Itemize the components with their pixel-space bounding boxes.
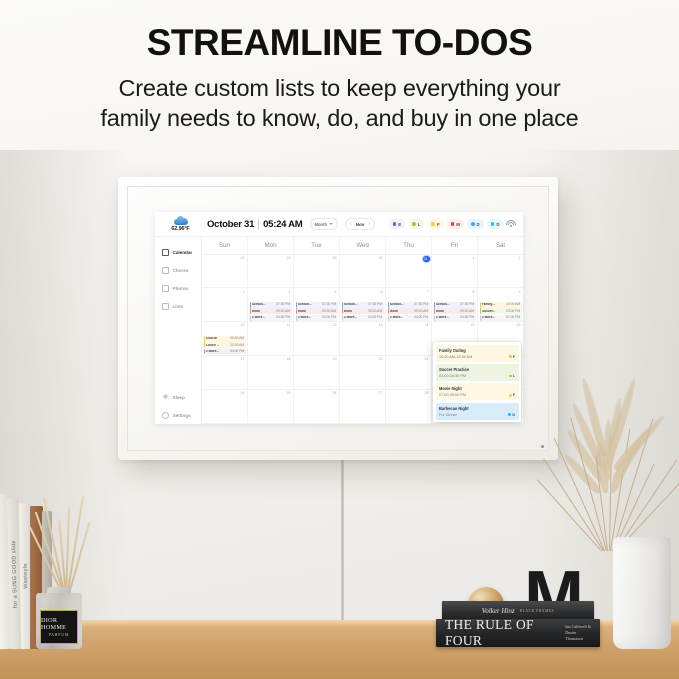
calendar-week-row: 272829303112 xyxy=(202,255,523,289)
view-selector-dropdown[interactable]: Month xyxy=(310,218,339,230)
calendar-event[interactable]: Lunch ...12:00 AM xyxy=(204,342,246,348)
event-title: 2 More... xyxy=(390,316,403,319)
filter-chip-label: E xyxy=(398,222,401,227)
filter-chip-d-5[interactable]: D xyxy=(487,219,503,229)
book-bottom-title: THE RULE OF FOUR xyxy=(445,617,557,649)
filter-color-dot xyxy=(491,222,495,226)
event-time: 04:00 PM xyxy=(368,316,382,319)
day-number: 26 xyxy=(296,392,338,396)
sidebar-item-calendar[interactable]: Calendar xyxy=(155,243,201,261)
agenda-card-title: Movie Night xyxy=(439,386,515,391)
day-number: 29 xyxy=(296,256,338,260)
chevron-right-icon[interactable]: › xyxy=(368,222,370,227)
sidebar-item-label: Chores xyxy=(173,268,189,273)
agenda-badge-label: F xyxy=(513,393,515,397)
filter-color-dot xyxy=(471,222,475,226)
calendar-day-cell[interactable]: 19 xyxy=(294,356,340,389)
day-number: 28 xyxy=(250,256,292,260)
day-events: Church09:00 AMLunch ...12:00 AM2 More...… xyxy=(204,336,246,355)
filter-chip-f-2[interactable]: F xyxy=(428,219,444,229)
day-header-fri: Fri xyxy=(432,237,478,254)
event-title: School... xyxy=(344,303,358,306)
event-time: 07:00 PM xyxy=(506,316,520,319)
agenda-badge-label: D xyxy=(512,413,515,417)
agenda-card-title: Soccer Practice xyxy=(439,367,515,372)
calendar-event[interactable]: 2 More...04:00 PM xyxy=(296,315,338,321)
calendar-day-cell[interactable]: 3 xyxy=(202,288,248,321)
book-spine-text: for a SUNG GOOD slide xyxy=(11,540,19,608)
event-time: 07:30 PM xyxy=(460,303,474,306)
calendar-day-cell[interactable]: 29 xyxy=(294,255,340,288)
day-number: 18 xyxy=(250,358,292,362)
calendar-event[interactable]: 2 More...04:00 PM xyxy=(250,315,292,321)
agenda-card-subtitle: 10:00 AM-12:00 AM xyxy=(439,355,472,359)
filter-color-dot xyxy=(412,222,416,226)
sidebar-item-photos[interactable]: Photos xyxy=(155,279,201,297)
event-time: 09:00 AM xyxy=(368,310,382,313)
member-filter-chips: ELFMDD xyxy=(389,219,503,229)
filter-color-dot xyxy=(431,222,435,226)
day-events: School...07:30 PMWork09:00 AM2 More...04… xyxy=(434,302,476,321)
diffuser-sub: PARFUM xyxy=(49,633,69,637)
event-time: 07:30 PM xyxy=(414,303,428,306)
calendar-icon xyxy=(162,249,169,256)
diffuser-label: DIOR HOMME PARFUM xyxy=(40,610,78,644)
agenda-badge-dot xyxy=(508,413,511,416)
sidebar-item-settings[interactable]: Settings xyxy=(155,406,201,424)
agenda-card-badge: F xyxy=(509,355,515,359)
calendar-day-cell[interactable]: 11 xyxy=(248,322,294,355)
datetime-display: October 31 05:24 AM xyxy=(207,219,303,230)
app-topbar: 62.96°F October 31 05:24 AM Month ‹ Nov xyxy=(155,212,523,237)
event-title: Soccer... xyxy=(482,310,496,313)
event-time: 04:00 PM xyxy=(322,316,336,319)
calendar-day-cell[interactable]: 18 xyxy=(248,356,294,389)
calendar-day-cell[interactable]: 21 xyxy=(386,356,432,389)
calendar-event[interactable]: School...07:30 PM xyxy=(388,302,430,308)
event-title: 2 More... xyxy=(482,316,495,319)
event-title: 2 More... xyxy=(206,350,219,353)
event-time: 09:00 AM xyxy=(276,310,290,313)
agenda-card[interactable]: Movie Night07:00-09:00 PMF xyxy=(436,383,519,400)
calendar-day-cell[interactable]: 17 xyxy=(202,356,248,389)
agenda-badge-dot xyxy=(509,394,512,397)
day-events: School...07:30 PMWork09:00 AM2 More...04… xyxy=(342,302,384,321)
event-time: 04:00 PM xyxy=(276,316,290,319)
filter-chip-label: D xyxy=(496,222,499,227)
reed-diffuser: DIOR HOMME PARFUM xyxy=(30,553,88,649)
calendar-day-cell[interactable]: 12 xyxy=(294,322,340,355)
day-number: 27 xyxy=(342,392,384,396)
day-number: 15 xyxy=(434,324,476,328)
day-number: 1 xyxy=(434,256,476,260)
calendar-day-cell[interactable]: 7School...07:30 PMWork09:00 AM2 More...0… xyxy=(386,288,432,321)
agenda-card-badge: D xyxy=(508,413,515,417)
app-sidebar: CalendarChoresPhotosLists✳SleepSettings xyxy=(155,237,202,424)
day-number: 19 xyxy=(296,358,338,362)
agenda-badge-label: F xyxy=(513,355,515,359)
agenda-card-row: 03:00-04:30 PML xyxy=(439,374,515,378)
photos-icon xyxy=(162,285,169,292)
calendar-event[interactable]: 2 More...04:00 PM xyxy=(342,315,384,321)
day-number: 16 xyxy=(480,324,522,328)
agenda-card[interactable]: Family Outing10:00 AM-12:00 AMF xyxy=(436,345,519,362)
sidebar-item-label: Lists xyxy=(173,304,184,309)
event-time: 04:00 PM xyxy=(460,316,474,319)
event-title: School... xyxy=(436,303,450,306)
calendar-event[interactable]: 2 More...04:00 PM xyxy=(434,315,476,321)
event-title: Work xyxy=(344,310,352,313)
lists-icon xyxy=(162,303,169,310)
wifi-icon[interactable] xyxy=(506,220,516,228)
day-number: 2 xyxy=(480,256,522,260)
calendar-event[interactable]: 2 More...04:00 PM xyxy=(388,315,430,321)
sidebar-spacer xyxy=(155,315,201,388)
calendar-event[interactable]: Work09:00 AM xyxy=(434,308,476,314)
calendar-day-cell[interactable]: 27 xyxy=(340,390,386,423)
day-header-sun: Sun xyxy=(202,237,248,254)
event-title: School... xyxy=(298,303,312,306)
calendar-day-cell[interactable]: 30 xyxy=(340,255,386,288)
tablet-screen[interactable]: 62.96°F October 31 05:24 AM Month ‹ Nov xyxy=(155,212,523,424)
event-time: 07:30 PM xyxy=(276,303,290,306)
calendar-day-cell[interactable]: 9Family...10:00 AMSoccer...03:00 PM2 Mor… xyxy=(478,288,523,321)
event-time: 07:30 PM xyxy=(322,303,336,306)
day-number: 4 xyxy=(250,290,292,294)
right-book-stack: Volker Hinz BLACK FRAMES THE RULE OF FOU… xyxy=(436,601,604,649)
event-title: 2 More... xyxy=(344,316,357,319)
app-body: CalendarChoresPhotosLists✳SleepSettings … xyxy=(155,237,523,424)
agenda-card-subtitle: 07:00-09:00 PM xyxy=(439,393,466,397)
event-time: 10:00 AM xyxy=(506,303,520,306)
day-number: 27 xyxy=(204,256,246,260)
filter-chip-label: M xyxy=(456,222,460,227)
event-title: School... xyxy=(252,303,266,306)
calendar-event[interactable]: School...07:30 PM xyxy=(250,302,292,308)
calendar-day-cell[interactable]: 10Church09:00 AMLunch ...12:00 AM2 More.… xyxy=(202,322,248,355)
calendar-event[interactable]: Work09:00 AM xyxy=(342,308,384,314)
event-title: Family... xyxy=(482,303,495,306)
sidebar-item-lists[interactable]: Lists xyxy=(155,297,201,315)
calendar-event[interactable]: Church09:00 AM xyxy=(204,336,246,342)
calendar-event[interactable]: Work09:00 AM xyxy=(296,308,338,314)
day-number: 7 xyxy=(388,290,430,294)
day-number: 20 xyxy=(342,358,384,362)
diffuser-bottle: DIOR HOMME PARFUM xyxy=(36,593,82,649)
current-time: 05:24 AM xyxy=(263,219,302,230)
agenda-card[interactable]: Barbecue NightFor DinnerD xyxy=(436,403,519,420)
calendar-day-cell[interactable]: 2 xyxy=(478,255,523,288)
sidebar-item-label: Calendar xyxy=(173,250,193,255)
agenda-badge-dot xyxy=(509,375,512,378)
day-number-today: 31 xyxy=(423,256,429,262)
hero-subhead-line2: family needs to know, do, and buy in one… xyxy=(0,103,679,133)
day-number: 11 xyxy=(250,324,292,328)
calendar-day-cell[interactable]: 25 xyxy=(248,390,294,423)
calendar-day-cell[interactable]: 24 xyxy=(202,390,248,423)
calendar-day-cell[interactable]: 5School...07:30 PMWork09:00 AM2 More...0… xyxy=(294,288,340,321)
pampas-grass xyxy=(533,386,679,551)
calendar-event[interactable]: Work09:00 AM xyxy=(250,308,292,314)
day-header-mon: Mon xyxy=(248,237,294,254)
event-title: Work xyxy=(436,310,444,313)
agenda-card-title: Barbecue Night xyxy=(439,406,515,411)
sidebar-item-label: Photos xyxy=(173,286,189,291)
calendar-view: SunMonTueWedThuFriSat 27282930311234Scho… xyxy=(202,237,523,424)
event-title: Lunch ... xyxy=(206,344,220,347)
filter-chip-d-4[interactable]: D xyxy=(467,219,483,229)
agenda-panel[interactable]: Family Outing10:00 AM-12:00 AMFSoccer Pr… xyxy=(433,342,521,422)
room-scene: STREAMLINE TO-DOS Create custom lists to… xyxy=(0,0,679,679)
day-of-week-header: SunMonTueWedThuFriSat xyxy=(202,237,523,255)
weather-widget[interactable]: 62.96°F xyxy=(157,216,204,232)
event-time: 12:00 AM xyxy=(230,344,244,347)
sleep-icon: ✳ xyxy=(162,394,169,401)
author-line: Dustin Thomason xyxy=(565,630,591,641)
filter-chip-label: F xyxy=(437,222,440,227)
filter-chip-label: D xyxy=(477,222,480,227)
agenda-card-badge: F xyxy=(509,393,515,397)
event-title: Work xyxy=(252,310,260,313)
event-time: 09:00 AM xyxy=(460,310,474,313)
day-number: 21 xyxy=(388,358,430,362)
calendar-day-cell[interactable]: 31 xyxy=(386,255,432,288)
calendar-event[interactable]: School...07:30 PM xyxy=(342,302,384,308)
gear-icon xyxy=(162,412,169,419)
agenda-card-row: 07:00-09:00 PMF xyxy=(439,393,515,397)
calendar-day-cell[interactable]: 28 xyxy=(386,390,432,423)
sidebar-item-sleep[interactable]: ✳Sleep xyxy=(155,388,201,406)
day-number: 17 xyxy=(204,358,246,362)
book-top-sub: BLACK FRAMES xyxy=(520,609,555,613)
filter-color-dot xyxy=(451,222,455,226)
agenda-card-subtitle: For Dinner xyxy=(439,413,457,417)
day-header-tue: Tue xyxy=(294,237,340,254)
day-number: 28 xyxy=(388,392,430,396)
day-number: 3 xyxy=(204,290,246,294)
temperature-label: 62.96°F xyxy=(171,226,189,232)
event-time: 04:00 PM xyxy=(414,316,428,319)
calendar-event[interactable]: School...07:30 PM xyxy=(434,302,476,308)
filter-chip-l-1[interactable]: L xyxy=(409,219,425,229)
agenda-card-badge: L xyxy=(509,374,515,378)
day-number: 10 xyxy=(204,324,246,328)
filter-chip-e-0[interactable]: E xyxy=(389,219,405,229)
agenda-badge-dot xyxy=(509,355,512,358)
event-title: Work xyxy=(390,310,398,313)
day-number: 8 xyxy=(434,290,476,294)
day-header-wed: Wed xyxy=(340,237,386,254)
event-title: Church xyxy=(206,337,218,340)
event-title: School... xyxy=(390,303,404,306)
current-date: October 31 xyxy=(207,219,254,230)
book-bottom: THE RULE OF FOUR Ian Caldwell &Dustin Th… xyxy=(436,619,600,647)
day-number: 24 xyxy=(204,392,246,396)
calendar-day-cell[interactable]: 4School...07:30 PMWork09:00 AM2 More...0… xyxy=(248,288,294,321)
event-time: 09:00 AM xyxy=(230,337,244,340)
agenda-card[interactable]: Soccer Practice03:00-04:30 PML xyxy=(436,364,519,381)
day-number: 30 xyxy=(342,256,384,260)
agenda-card-row: 10:00 AM-12:00 AMF xyxy=(439,355,515,359)
page-title: STREAMLINE TO-DOS xyxy=(0,22,679,65)
day-header-thu: Thu xyxy=(386,237,432,254)
event-time: 09:00 AM xyxy=(414,310,428,313)
event-title: Work xyxy=(298,310,306,313)
filter-chip-label: L xyxy=(418,222,421,227)
calendar-day-cell[interactable]: 13 xyxy=(340,322,386,355)
day-number: 5 xyxy=(296,290,338,294)
sidebar-item-label: Sleep xyxy=(173,395,185,400)
event-time: 03:00 PM xyxy=(506,310,520,313)
day-number: 6 xyxy=(342,290,384,294)
sidebar-item-chores[interactable]: Chores xyxy=(155,261,201,279)
chevron-down-icon xyxy=(329,223,333,225)
hero-subhead-line1: Create custom lists to keep everything y… xyxy=(0,73,679,103)
cloud-icon xyxy=(174,216,188,225)
agenda-card-row: For DinnerD xyxy=(439,413,515,417)
calendar-event[interactable]: Family...10:00 AM xyxy=(480,302,522,308)
book-spine-text: Wasteyle xyxy=(22,563,28,589)
day-events: School...07:30 PMWork09:00 AM2 More...04… xyxy=(388,302,430,321)
calendar-day-cell[interactable]: 26 xyxy=(294,390,340,423)
agenda-card-subtitle: 03:00-04:30 PM xyxy=(439,374,466,378)
calendar-event[interactable]: 2 More...07:00 PM xyxy=(480,315,522,321)
event-time: 09:00 AM xyxy=(322,310,336,313)
wall-mounted-display-frame: 62.96°F October 31 05:24 AM Month ‹ Nov xyxy=(118,177,558,460)
calendar-day-cell[interactable]: 14 xyxy=(386,322,432,355)
sidebar-item-label: Settings xyxy=(173,413,191,418)
diffuser-brand: DIOR HOMME xyxy=(41,617,77,631)
month-navigator[interactable]: ‹ Nov › xyxy=(345,218,375,230)
day-events: School...07:30 PMWork09:00 AM2 More...04… xyxy=(296,302,338,321)
day-number: 9 xyxy=(480,290,522,294)
vase xyxy=(613,537,671,649)
chores-icon xyxy=(162,267,169,274)
event-title: 2 More... xyxy=(436,316,449,319)
calendar-day-cell[interactable]: 20 xyxy=(340,356,386,389)
month-label: Nov xyxy=(356,222,365,227)
calendar-app: 62.96°F October 31 05:24 AM Month ‹ Nov xyxy=(155,212,523,424)
book-top-title: Volker Hinz xyxy=(482,607,515,615)
book-bottom-authors: Ian Caldwell &Dustin Thomason xyxy=(565,624,591,641)
calendar-event[interactable]: Soccer...03:00 PM xyxy=(480,308,522,314)
day-header-sat: Sat xyxy=(478,237,523,254)
calendar-week-row: 34School...07:30 PMWork09:00 AM2 More...… xyxy=(202,288,523,322)
calendar-day-cell[interactable]: 28 xyxy=(248,255,294,288)
calendar-event[interactable]: 2 More...03:00 PM xyxy=(204,349,246,355)
calendar-day-cell[interactable]: 6School...07:30 PMWork09:00 AM2 More...0… xyxy=(340,288,386,321)
agenda-card-title: Family Outing xyxy=(439,348,515,353)
day-number: 14 xyxy=(388,324,430,328)
hero-text-block: STREAMLINE TO-DOS Create custom lists to… xyxy=(0,22,679,133)
view-selector-label: Month xyxy=(315,222,328,227)
power-cable xyxy=(341,458,344,623)
hero-subhead: Create custom lists to keep everything y… xyxy=(0,73,679,133)
diffuser-reed xyxy=(67,522,90,597)
diffuser-reeds xyxy=(51,493,81,597)
event-title: 2 More... xyxy=(298,316,311,319)
chevron-left-icon[interactable]: ‹ xyxy=(350,222,352,227)
day-number: 12 xyxy=(296,324,338,328)
agenda-badge-label: L xyxy=(513,374,515,378)
calendar-day-cell[interactable]: 27 xyxy=(202,255,248,288)
event-time: 03:00 PM xyxy=(230,350,244,353)
event-title: 2 More... xyxy=(252,316,265,319)
day-events: Family...10:00 AMSoccer...03:00 PM2 More… xyxy=(480,302,522,321)
day-number: 25 xyxy=(250,392,292,396)
event-time: 07:30 PM xyxy=(368,303,382,306)
datetime-divider xyxy=(258,219,259,230)
calendar-event[interactable]: School...07:30 PM xyxy=(296,302,338,308)
calendar-event[interactable]: Work09:00 AM xyxy=(388,308,430,314)
day-number: 13 xyxy=(342,324,384,328)
filter-color-dot xyxy=(393,222,397,226)
filter-chip-m-3[interactable]: M xyxy=(447,219,464,229)
calendar-day-cell[interactable]: 8School...07:30 PMWork09:00 AM2 More...0… xyxy=(432,288,478,321)
day-events: School...07:30 PMWork09:00 AM2 More...04… xyxy=(250,302,292,321)
calendar-day-cell[interactable]: 1 xyxy=(432,255,478,288)
